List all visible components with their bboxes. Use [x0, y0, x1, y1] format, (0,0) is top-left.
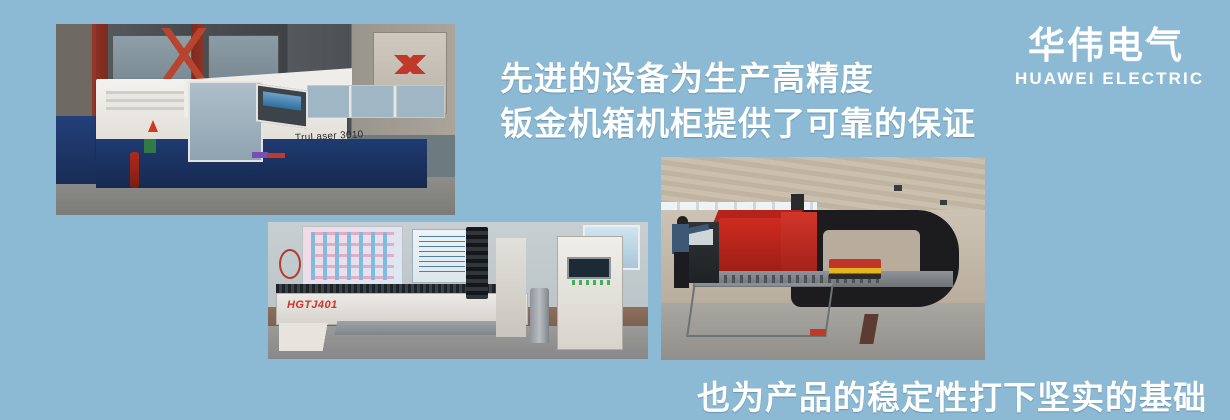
safety-cone — [148, 120, 158, 132]
tool-red — [267, 153, 285, 158]
machine-cabin-door — [188, 81, 264, 161]
wall-poster-text — [412, 229, 471, 283]
work-table — [335, 321, 520, 335]
gas-cylinder — [530, 288, 549, 343]
cutter-scene: HGTJ401 — [268, 222, 648, 359]
cable-carrier — [466, 227, 489, 298]
operator-legs — [674, 252, 689, 288]
machine-window-strip — [307, 85, 445, 118]
machine-tower — [496, 238, 526, 337]
company-logo: 华伟电气 HUAWEI ELECTRIC — [1015, 26, 1197, 90]
subline-text: 也为产品的稳定性打下坚实的基础 — [697, 371, 1207, 419]
ceiling-lamp-left — [894, 185, 902, 191]
headline-line-1: 先进的设备为生产高精度 — [500, 56, 976, 101]
punch-scene — [661, 157, 985, 360]
machine-rail — [276, 284, 527, 294]
tool-purple — [252, 152, 268, 158]
control-cabinet — [557, 236, 624, 350]
scissor-lift — [160, 28, 208, 81]
operator-torso — [672, 224, 689, 254]
press-sheet-carriage — [829, 259, 881, 279]
ceiling-lamp-right — [940, 200, 947, 205]
logo-chinese-name: 华伟电气 — [1015, 26, 1197, 66]
electrical-box — [144, 139, 156, 153]
indicator-lights — [572, 280, 614, 285]
press-red-column — [781, 212, 817, 273]
wall-poster-chart — [302, 226, 403, 286]
logo-english-name: HUAWEI ELECTRIC — [1015, 68, 1197, 90]
headline-text: 先进的设备为生产高精度 钣金机箱机柜提供了可靠的保证 — [500, 56, 976, 146]
photo-cutting-machine: HGTJ401 — [268, 222, 648, 359]
photo-punch-press — [661, 157, 985, 360]
floor-tool-red — [810, 329, 826, 336]
machine-control-panel — [256, 83, 308, 129]
laser-scene: TruLaser 3010 — [56, 24, 455, 215]
headline-line-2: 钣金机箱机柜提供了可靠的保证 — [500, 101, 976, 146]
machine-model-label-cutter: HGTJ401 — [287, 299, 338, 311]
fire-extinguisher — [130, 152, 139, 188]
photo-laser-machine: TruLaser 3010 — [56, 24, 455, 215]
promo-banner: TruLaser 3010 HGTJ401 — [0, 0, 1230, 420]
